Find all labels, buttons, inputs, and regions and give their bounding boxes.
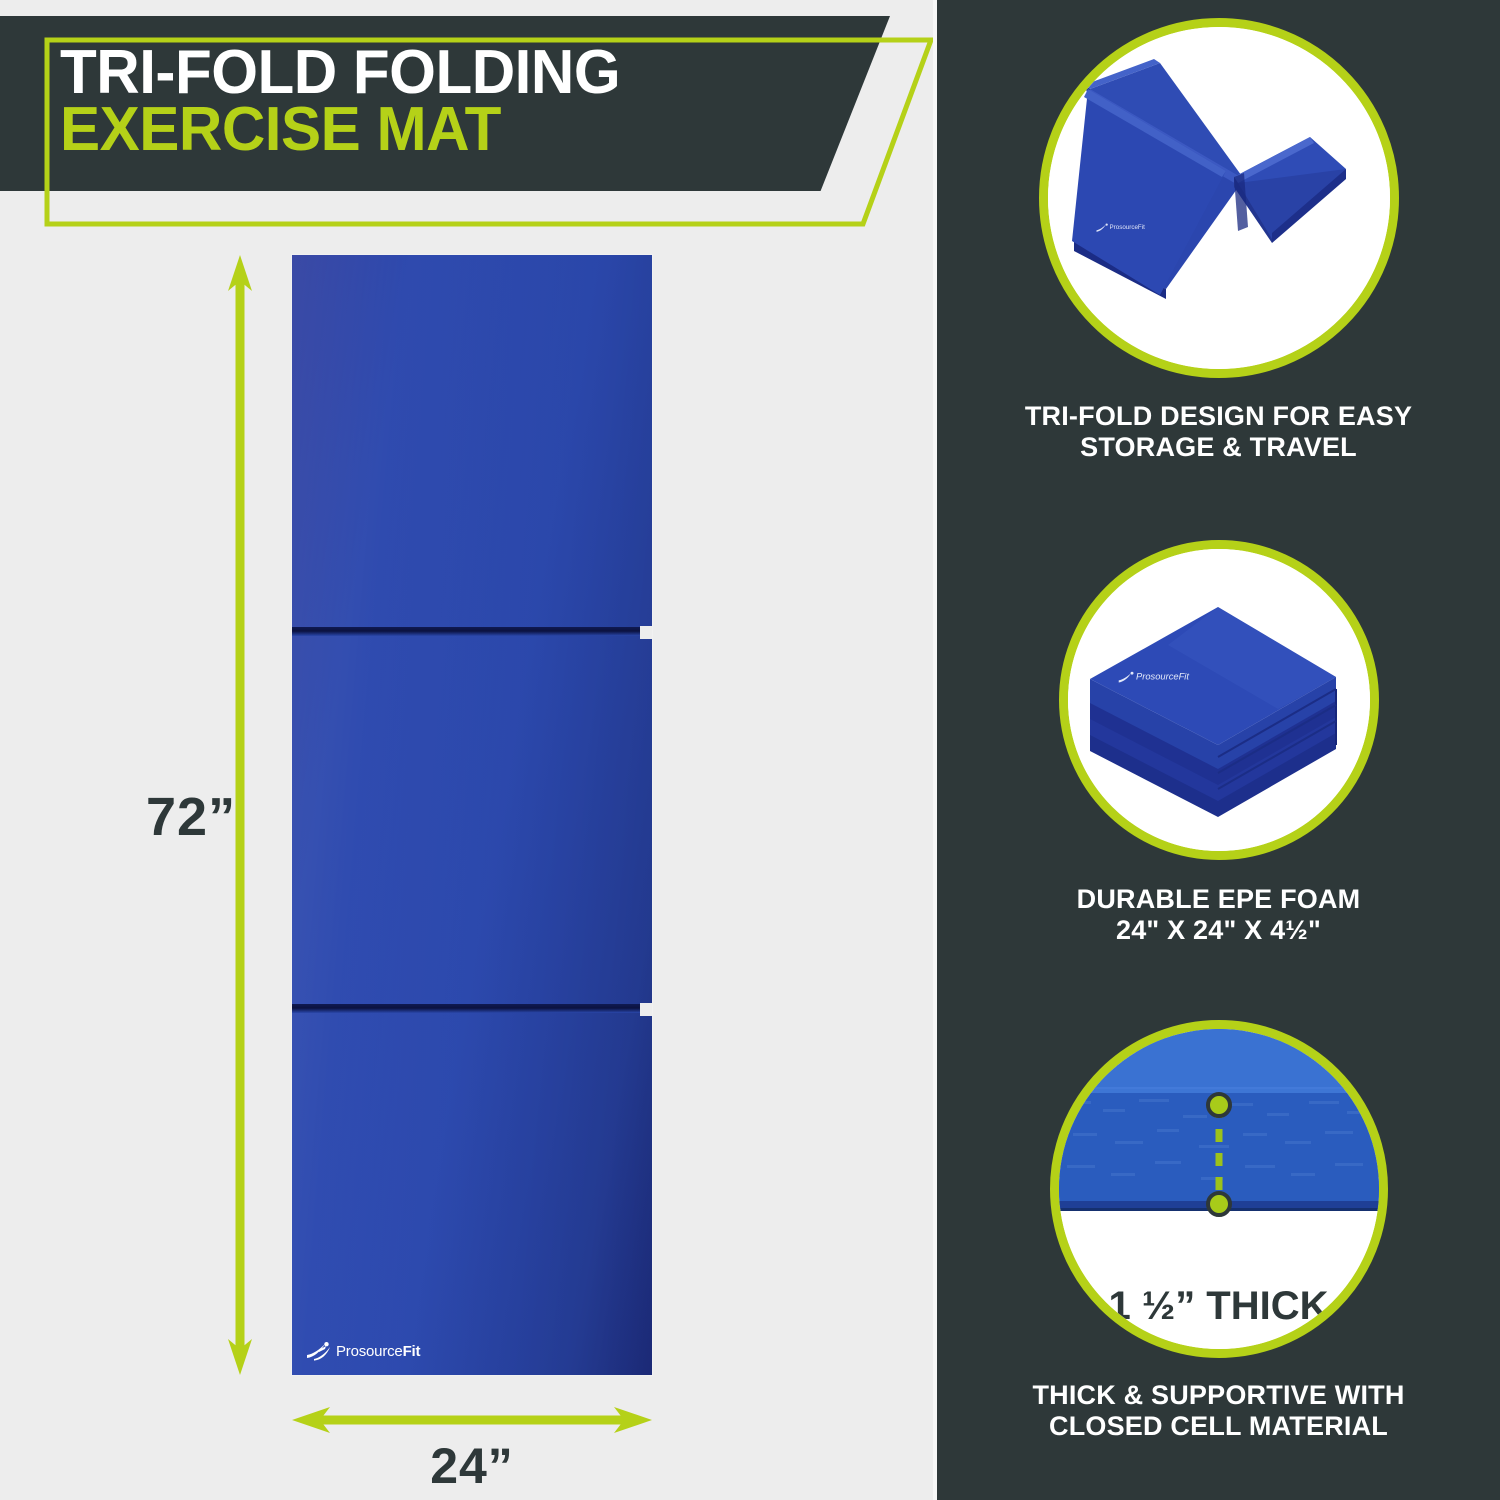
mat-fold-seam bbox=[292, 627, 652, 636]
mat-fold-notch bbox=[640, 626, 652, 639]
mat-diagram: ProsourceFit 72” 24” bbox=[0, 0, 935, 1500]
mat-body bbox=[292, 255, 652, 1375]
brand-logo-text: ProsourceFit bbox=[336, 1343, 420, 1360]
feature-caption-line-1: TRI-FOLD DESIGN FOR EASY bbox=[953, 401, 1484, 432]
feature-durable-epe-foam: ProsourceFit DURABLE EPE FOAM 24" x 24" … bbox=[937, 540, 1500, 947]
feature-caption-line-1: DURABLE EPE FOAM bbox=[953, 884, 1484, 915]
feature-image-circle: ProsourceFit bbox=[1059, 540, 1379, 860]
width-dimension-label: 24” bbox=[292, 1437, 652, 1495]
prosourcefit-swoosh-icon bbox=[306, 1341, 332, 1361]
tri-fold-mat-illustration: ProsourceFit bbox=[1048, 27, 1390, 369]
feature-thick-supportive: 1 ½” THICK THICK & SUPPORTIVE WITH CLOSE… bbox=[937, 1020, 1500, 1443]
mat-fold-notch bbox=[640, 1003, 652, 1016]
brand-logo: ProsourceFit bbox=[306, 1341, 420, 1361]
right-panel: ProsourceFit TRI-FOLD DESIGN FOR EASY ST… bbox=[937, 0, 1500, 1500]
feature-caption: TRI-FOLD DESIGN FOR EASY STORAGE & TRAVE… bbox=[937, 401, 1500, 464]
feature-image-circle: 1 ½” THICK bbox=[1050, 1020, 1388, 1358]
feature-image-circle: ProsourceFit bbox=[1039, 18, 1399, 378]
svg-text:ProsourceFit: ProsourceFit bbox=[1109, 224, 1145, 231]
feature-caption-line-2: STORAGE & TRAVEL bbox=[953, 432, 1484, 463]
infographic-page: TRI-FOLD FOLDING EXERCISE MAT ProsourceF bbox=[0, 0, 1500, 1500]
feature-caption: DURABLE EPE FOAM 24" x 24" x 4½" bbox=[937, 884, 1500, 947]
feature-caption-line-2: 24" x 24" x 4½" bbox=[953, 915, 1484, 946]
width-dimension-arrow bbox=[292, 1403, 652, 1437]
left-panel: TRI-FOLD FOLDING EXERCISE MAT ProsourceF bbox=[0, 0, 935, 1500]
feature-caption-line-1: THICK & SUPPORTIVE WITH bbox=[953, 1380, 1484, 1411]
feature-caption: THICK & SUPPORTIVE WITH CLOSED CELL MATE… bbox=[937, 1380, 1500, 1443]
thickness-callout-label: 1 ½” THICK bbox=[1059, 1284, 1379, 1329]
mat-fold-seam bbox=[292, 1004, 652, 1013]
svg-text:ProsourceFit: ProsourceFit bbox=[1136, 672, 1189, 682]
feature-tri-fold-design: ProsourceFit TRI-FOLD DESIGN FOR EASY ST… bbox=[937, 18, 1500, 464]
feature-caption-line-2: CLOSED CELL MATERIAL bbox=[953, 1411, 1484, 1442]
height-dimension-label: 72” bbox=[146, 786, 236, 848]
stacked-folded-mat-illustration: ProsourceFit bbox=[1068, 549, 1370, 851]
